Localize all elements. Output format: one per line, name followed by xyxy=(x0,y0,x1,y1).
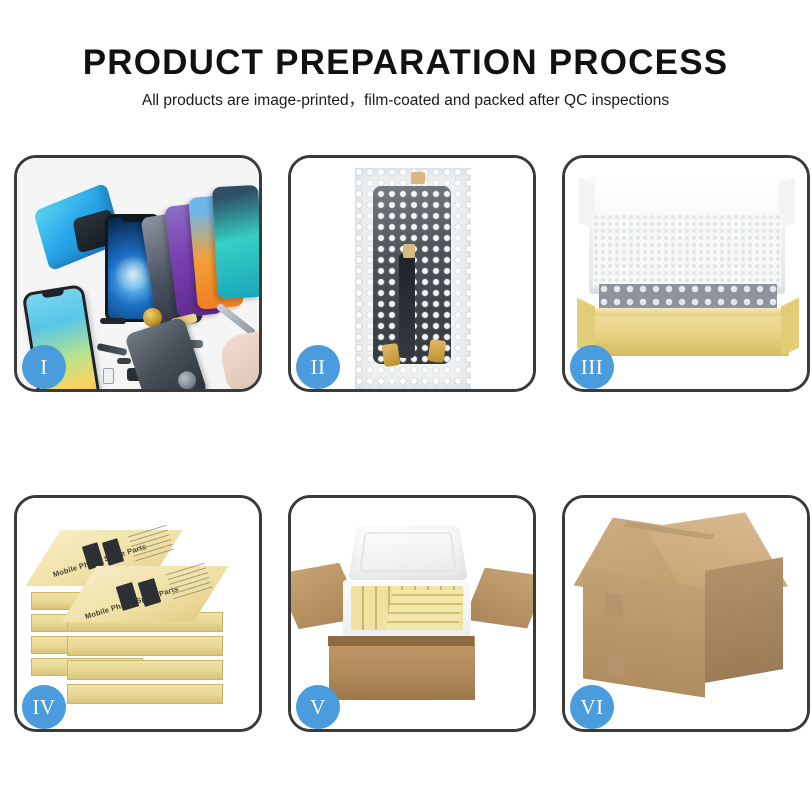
page-header: PRODUCT PREPARATION PROCESS All products… xyxy=(0,0,811,114)
gold-box-r2 xyxy=(67,636,223,656)
carton-side-face-icon xyxy=(705,557,783,683)
bubble-wrap-sleeve-icon xyxy=(355,168,471,389)
flex-cable-small-icon xyxy=(97,343,128,356)
process-steps-grid: I II III xyxy=(14,155,810,732)
page-title: PRODUCT PREPARATION PROCESS xyxy=(0,42,811,84)
step-card-4: Mobile Phone Spare Parts Mobile Phone Sp… xyxy=(14,495,262,732)
gold-box-r4 xyxy=(67,684,223,704)
step-badge-4: IV xyxy=(22,685,66,729)
tape-top-icon xyxy=(411,172,425,184)
gold-connector-right-icon xyxy=(428,339,447,363)
foam-lid-icon xyxy=(348,526,468,581)
step-card-6: VI xyxy=(562,495,810,732)
side-button-icon xyxy=(117,358,131,364)
gold-box-stack: Mobile Phone Spare Parts Mobile Phone Sp… xyxy=(27,514,253,714)
step-badge-2: II xyxy=(296,345,340,389)
page-subtitle: All products are image-printed，film-coat… xyxy=(0,88,811,114)
gold-connector-left-icon xyxy=(382,343,401,367)
phone-fan-group xyxy=(149,186,259,326)
step-card-5: V xyxy=(288,495,536,732)
step-badge-6: VI xyxy=(570,685,614,729)
carton-tape-lower-icon xyxy=(607,653,625,678)
step-card-1: I xyxy=(14,155,262,392)
foam-sheet-icon xyxy=(593,214,781,288)
gold-boxes-row-2-icon xyxy=(386,590,464,630)
gold-box-r3 xyxy=(67,660,223,680)
phone-teal-icon xyxy=(212,185,259,299)
step-badge-5: V xyxy=(296,685,340,729)
step-badge-3: III xyxy=(570,345,614,389)
step-card-2: II xyxy=(288,155,536,392)
sim-tray-icon xyxy=(103,368,114,384)
step-card-3: III xyxy=(562,155,810,392)
earpiece-speaker-icon xyxy=(100,318,126,324)
carton-front-face-icon xyxy=(583,568,705,697)
tape-middle-icon xyxy=(403,244,415,258)
gold-box-base-icon xyxy=(587,316,789,356)
carton-body-icon xyxy=(329,636,475,700)
carton-tape-upper-icon xyxy=(605,593,623,618)
flex-cable-tail-icon xyxy=(399,254,415,358)
step-badge-1: I xyxy=(22,345,66,389)
